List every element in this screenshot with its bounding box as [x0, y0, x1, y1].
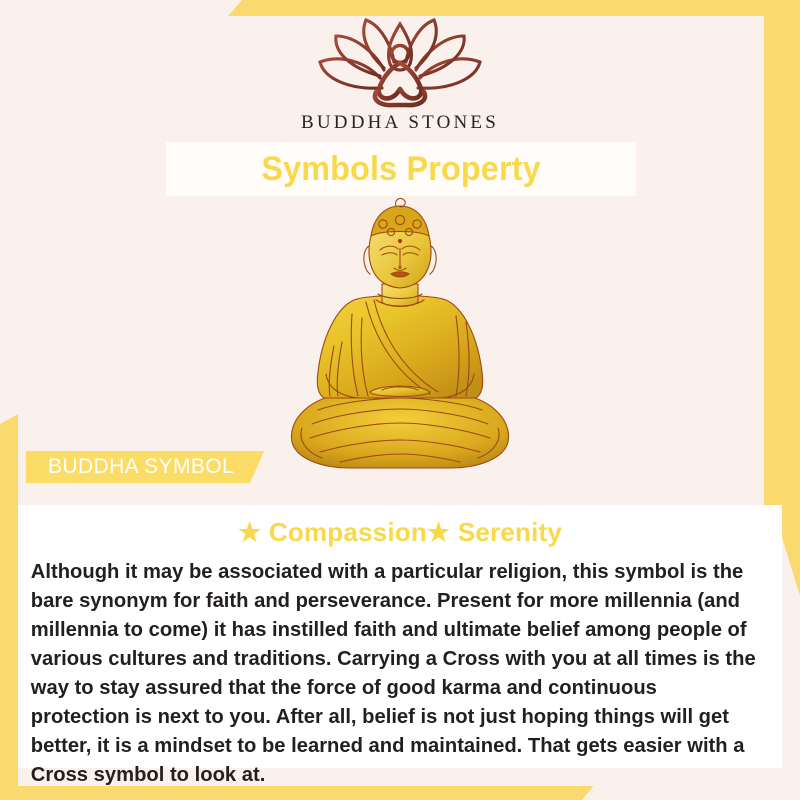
- content-panel: ★ Compassion★ Serenity Although it may b…: [18, 505, 782, 768]
- brand-name: BUDDHA STONES: [0, 112, 800, 134]
- content-subtitle: ★ Compassion★ Serenity: [18, 517, 782, 548]
- content-body-text: Although it may be associated with a par…: [18, 557, 771, 789]
- buddha-symbol-tag: BUDDHA SYMBOL: [26, 451, 264, 483]
- poster-canvas: BUDDHA STONES Symbols Property: [0, 0, 800, 800]
- lotus-meditation-icon: [310, 10, 490, 110]
- brand-logo: BUDDHA STONES: [0, 10, 800, 134]
- page-title: Symbols Property: [261, 150, 540, 189]
- buddha-symbol-tag-label: BUDDHA SYMBOL: [48, 455, 234, 479]
- title-banner: Symbols Property: [166, 142, 636, 196]
- golden-buddha-statue-icon: [270, 196, 530, 496]
